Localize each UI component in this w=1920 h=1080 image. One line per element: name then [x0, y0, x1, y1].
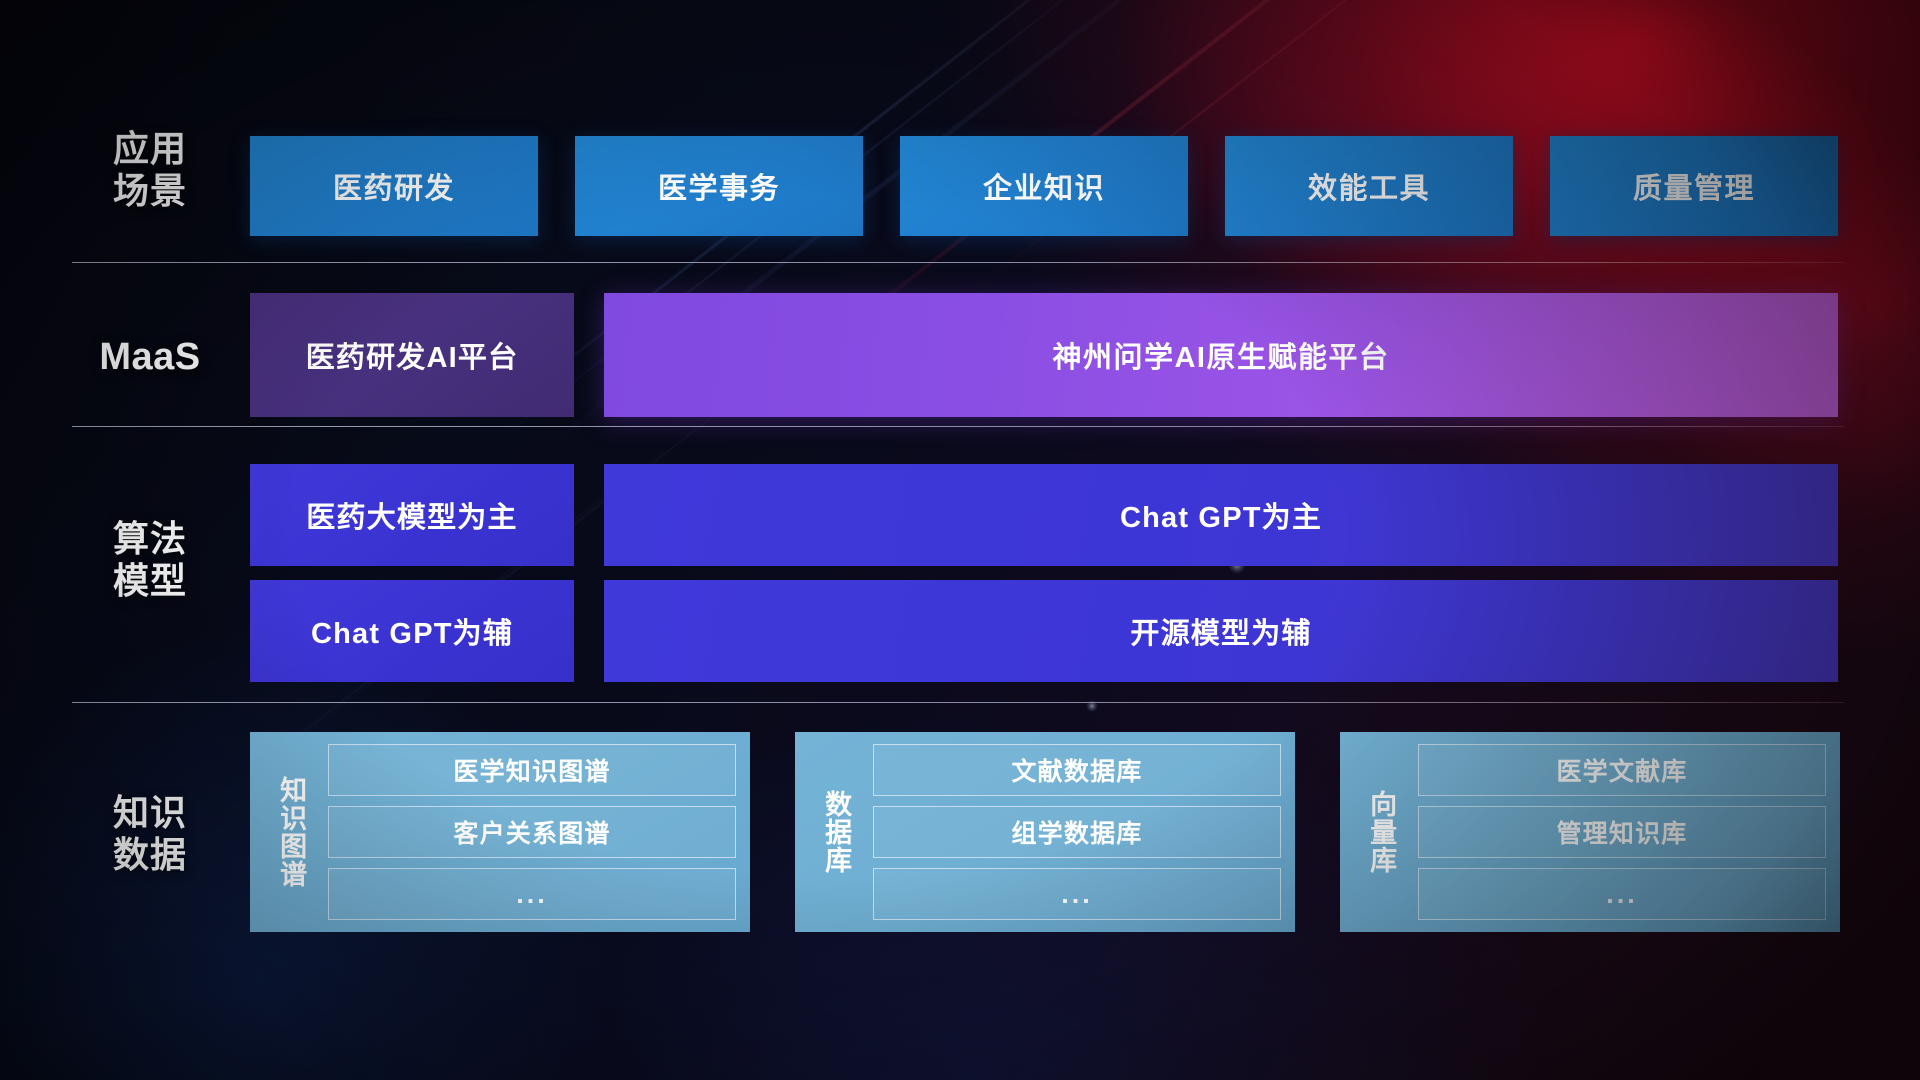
knowledge-item-more[interactable]: ...: [328, 868, 736, 920]
scenario-box-label: 医药研发: [333, 165, 455, 207]
knowledge-item-more[interactable]: ...: [873, 868, 1281, 920]
divider-after-scenarios: [72, 262, 1844, 263]
knowledge-item[interactable]: 文献数据库: [873, 744, 1281, 796]
knowledge-item[interactable]: 医学知识图谱: [328, 744, 736, 796]
row-label-application-scenarios: 应用 场景: [60, 128, 240, 213]
scenario-box-label: 企业知识: [983, 165, 1105, 207]
row-label-knowledge-data: 知识 数据: [60, 792, 240, 877]
scenario-box-2[interactable]: 医学事务: [575, 136, 863, 236]
algo-box-label: Chat GPT为辅: [311, 610, 513, 652]
row-label-algorithm-model: 算法 模型: [60, 518, 240, 603]
slide-canvas: 应用 场景 医药研发 医学事务 企业知识 效能工具 质量管理 MaaS 医药研发…: [0, 0, 1920, 1080]
knowledge-group-title: 知识图谱: [260, 744, 322, 920]
scenario-box-4[interactable]: 效能工具: [1225, 136, 1513, 236]
row-label-maas: MaaS: [60, 335, 240, 380]
maas-platform-label: 医药研发AI平台: [306, 334, 519, 376]
knowledge-group-title: 向量库: [1350, 744, 1412, 920]
knowledge-item-more[interactable]: ...: [1418, 868, 1826, 920]
algo-box-right-1[interactable]: Chat GPT为主: [604, 464, 1838, 566]
maas-platform-label: 神州问学AI原生赋能平台: [1052, 334, 1389, 376]
maas-platform-box-shenzhou[interactable]: 神州问学AI原生赋能平台: [604, 293, 1838, 417]
scenario-box-5[interactable]: 质量管理: [1550, 136, 1838, 236]
algo-box-left-1[interactable]: 医药大模型为主: [250, 464, 574, 566]
scenario-box-label: 质量管理: [1633, 165, 1755, 207]
knowledge-group-title: 数据库: [805, 744, 867, 920]
knowledge-group-vector[interactable]: 向量库 医学文献库 管理知识库 ...: [1340, 732, 1840, 932]
knowledge-group-database[interactable]: 数据库 文献数据库 组学数据库 ...: [795, 732, 1295, 932]
algo-box-label: 开源模型为辅: [1130, 610, 1311, 652]
knowledge-item[interactable]: 组学数据库: [873, 806, 1281, 858]
algo-box-right-2[interactable]: 开源模型为辅: [604, 580, 1838, 682]
knowledge-item[interactable]: 管理知识库: [1418, 806, 1826, 858]
divider-after-algorithms: [72, 702, 1844, 703]
algo-box-label: Chat GPT为主: [1120, 494, 1322, 536]
knowledge-group-items: 文献数据库 组学数据库 ...: [867, 744, 1281, 920]
maas-platform-box-medical[interactable]: 医药研发AI平台: [250, 293, 574, 417]
scenario-box-3[interactable]: 企业知识: [900, 136, 1188, 236]
knowledge-group-items: 医学文献库 管理知识库 ...: [1412, 744, 1826, 920]
divider-after-maas: [72, 426, 1844, 427]
knowledge-item[interactable]: 医学文献库: [1418, 744, 1826, 796]
knowledge-item[interactable]: 客户关系图谱: [328, 806, 736, 858]
scenario-box-label: 效能工具: [1308, 165, 1430, 207]
knowledge-group-items: 医学知识图谱 客户关系图谱 ...: [322, 744, 736, 920]
algo-box-left-2[interactable]: Chat GPT为辅: [250, 580, 574, 682]
scenario-box-1[interactable]: 医药研发: [250, 136, 538, 236]
diagram-content: 应用 场景 医药研发 医学事务 企业知识 效能工具 质量管理 MaaS 医药研发…: [0, 0, 1920, 1080]
knowledge-group-graph[interactable]: 知识图谱 医学知识图谱 客户关系图谱 ...: [250, 732, 750, 932]
algo-box-label: 医药大模型为主: [306, 494, 517, 536]
scenario-box-label: 医学事务: [658, 165, 780, 207]
